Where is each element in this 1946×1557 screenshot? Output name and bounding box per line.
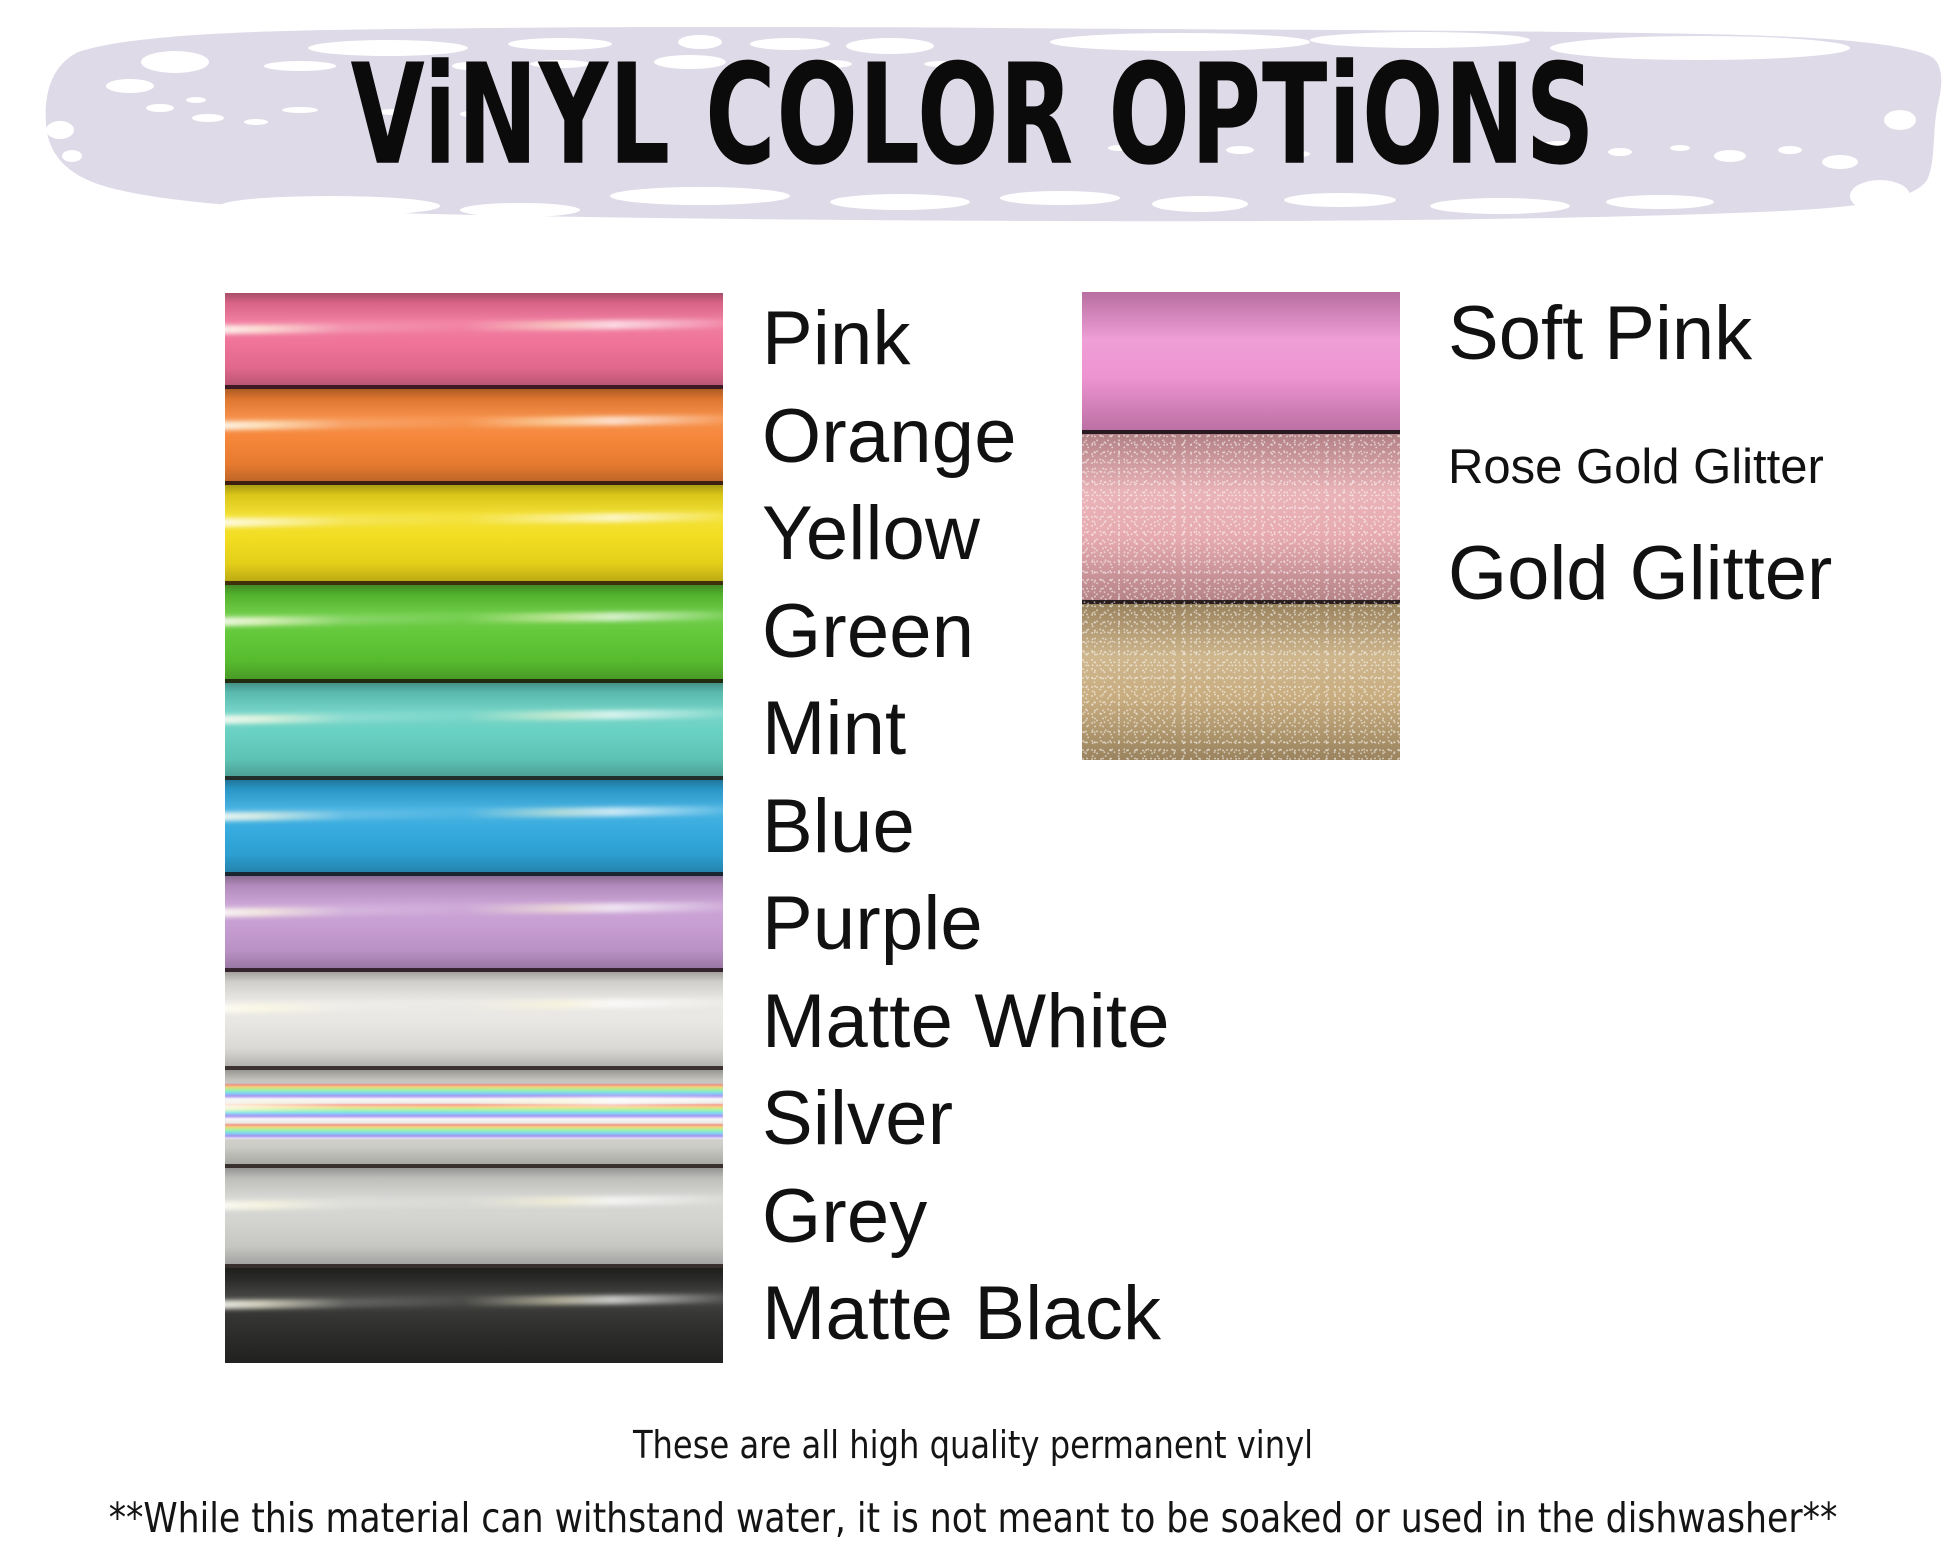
- specialty-name-rose-gold-glitter: Rose Gold Glitter: [1448, 438, 1824, 496]
- color-name-silver: Silver: [762, 1070, 1232, 1168]
- vinyl-band-matte-white: [225, 972, 723, 1070]
- specialty-vinyl-swatch-image: [1082, 292, 1400, 760]
- color-name-purple: Purple: [762, 875, 1232, 973]
- page-title: ViNYL COLOR OPTiONS: [136, 44, 1810, 187]
- specialty-band-gold-glitter: [1082, 604, 1400, 760]
- vinyl-band-green: [225, 585, 723, 683]
- specialty-band-rose-gold-glitter: [1082, 434, 1400, 604]
- footer-note-care-warning: **While this material can withstand wate…: [58, 1494, 1887, 1543]
- footer-note-quality: These are all high quality permanent vin…: [58, 1422, 1887, 1468]
- vinyl-band-mint: [225, 683, 723, 780]
- vinyl-band-purple: [225, 876, 723, 972]
- vinyl-band-yellow: [225, 485, 723, 585]
- color-name-matte-white: Matte White: [762, 973, 1232, 1071]
- color-name-blue: Blue: [762, 778, 1232, 876]
- specialty-band-soft-pink: [1082, 292, 1400, 434]
- color-name-grey: Grey: [762, 1168, 1232, 1266]
- vinyl-band-blue: [225, 780, 723, 876]
- holographic-rainbow-stripes: [225, 1084, 723, 1139]
- footer-notes: These are all high quality permanent vin…: [0, 1422, 1946, 1543]
- color-name-matte-black: Matte Black: [762, 1265, 1232, 1363]
- vinyl-band-pink: [225, 293, 723, 389]
- specialty-name-gold-glitter: Gold Glitter: [1448, 530, 1832, 618]
- specialty-name-soft-pink: Soft Pink: [1448, 290, 1752, 378]
- vinyl-band-silver: [225, 1070, 723, 1168]
- main-vinyl-swatch-image: [225, 293, 723, 1363]
- vinyl-band-matte-black: [225, 1268, 723, 1363]
- header-banner: ViNYL COLOR OPTiONS: [0, 0, 1946, 235]
- vinyl-band-grey: [225, 1168, 723, 1268]
- vinyl-band-orange: [225, 389, 723, 485]
